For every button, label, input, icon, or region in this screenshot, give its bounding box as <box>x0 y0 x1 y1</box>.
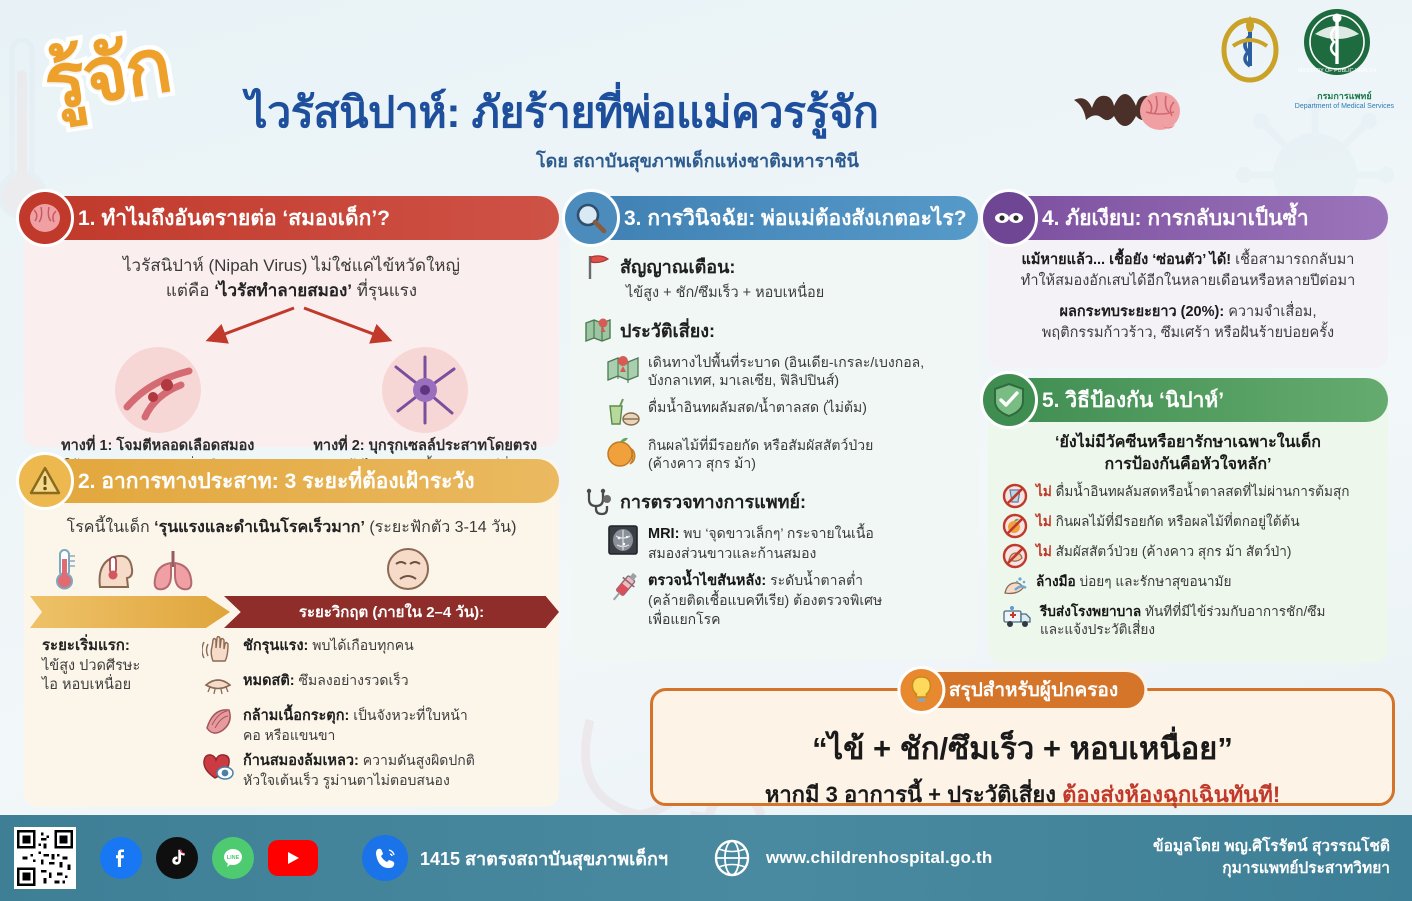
thermometer-icon <box>50 547 80 591</box>
youtube-icon[interactable] <box>268 840 318 876</box>
prevention-text: ดื่มน้ำอินทผลัมสดหรือน้ำตาลสดที่ไม่ผ่านก… <box>1052 484 1350 499</box>
symptom-text: พบได้เกือบทุกคน <box>308 637 413 653</box>
p4-line2: ทำให้สมองอักเสบได้อีกในหลายเดือนหรือหลาย… <box>1000 271 1376 292</box>
p4-line3-bold: ผลกระทบระยะยาว (20%): <box>1060 304 1225 320</box>
panel-neuro-symptoms: 2. อาการทางประสาท: 3 ระยะที่ต้องเฝ้าระวั… <box>24 459 559 807</box>
no-animal-icon <box>1002 543 1028 569</box>
prevention-item: ล้างมือ บ่อยๆ และรักษาสุขอนามัย <box>988 569 1388 599</box>
symptom-item: หมดสติ: ซึมลงอย่างรวดเร็ว <box>202 671 543 699</box>
wash-hands-icon <box>1002 573 1028 599</box>
social-links: LINE <box>100 837 318 879</box>
route-2-title: ทางที่ 2: บุกรุกเซลล์ประสาทโดยตรง <box>313 438 537 454</box>
blood-vessel-icon <box>115 347 201 433</box>
risk-head: ประวัติเสี่ยง: <box>584 316 978 345</box>
panel3-header: 3. การวินิจฉัย: พ่อแม่ต้องสังเกตอะไร? <box>570 196 978 240</box>
summary-line2-red: ต้องส่งห้องฉุกเฉินทันที! <box>1062 782 1280 807</box>
prevention-text: สัมผัสสัตว์ป่วย (ค้างคาว สุกร ม้า สัตว์ป… <box>1052 544 1292 559</box>
risk-item: เดินทางไปพื้นที่ระบาด (อินเดีย-เกรละ/เบง… <box>584 353 978 390</box>
royal-emblem-logo <box>1219 6 1281 91</box>
hotline-block: 1415 สาตรงสถาบันสุขภาพเด็กฯ <box>362 835 668 881</box>
panel3-title: 3. การวินิจฉัย: พ่อแม่ต้องสังเกตอะไร? <box>624 202 967 235</box>
infographic-root: รู้จัก ไวรัสนิปาห์: ภัยร้ายที่พ่อแม่ควรร… <box>0 0 1412 901</box>
panel-prevention: 5. วิธีป้องกัน ‘นิปาห์’ ‘ยังไม่มีวัคซีนห… <box>988 378 1388 663</box>
p4-line3-rest: ความจำเสื่อม, <box>1224 304 1316 320</box>
warning-triangle-icon <box>16 452 74 510</box>
panel2-lead: โรคนี้ในเด็ก ‘รุนแรงและดำเนินโรคเร็วมาก’… <box>24 515 559 540</box>
heart-eye-icon <box>202 751 234 781</box>
exam-item: ตรวจน้ำไขสันหลัง: ระดับน้ำตาลต่ำ (คล้ายต… <box>584 571 978 629</box>
risk-item: ดื่มน้ำอินทผลัมสด/น้ำตาลสด (ไม่ต้ม) <box>584 398 978 428</box>
stage-early: ระยะเริ่มแรก: ไข้สูง ปวดศีรษะ ไอ หอบเหนื… <box>42 636 192 796</box>
panel5-quote: ‘ยังไม่มีวัคซีนหรือยารักษาเฉพาะในเด็ก กา… <box>988 422 1388 479</box>
page-title: ไวรัสนิปาห์: ภัยร้ายที่พ่อแม่ควรรู้จัก <box>246 78 878 146</box>
symptom-item: ชักรุนแรง: พบได้เกือบทุกคน <box>202 636 543 664</box>
stage-early-bar <box>30 596 230 628</box>
panel2-title: 2. อาการทางประสาท: 3 ระยะที่ต้องเฝ้าระวั… <box>78 465 474 498</box>
panel1-lead-bold: ‘ไวรัสทำลายสมอง’ <box>214 281 352 300</box>
panel-silent-threat: 4. ภัยเงียบ: การกลับมาเป็นซ้ำ แม้หายแล้ว… <box>988 196 1388 368</box>
neuron-icon <box>382 347 468 433</box>
page-header: รู้จัก ไวรัสนิปาห์: ภัยร้ายที่พ่อแม่ควรร… <box>0 0 1412 180</box>
website-text[interactable]: www.childrenhospital.go.th <box>766 848 993 868</box>
p5-quote-l2: การป้องกันคือหัวใจหลัก’ <box>1002 454 1374 476</box>
risk-text: ดื่มน้ำอินทผลัมสด/น้ำตาลสด (ไม่ต้ม) <box>648 398 867 417</box>
medical-exam-section: การตรวจทางการแพทย์: MRI: พบ ‘จุดขาวเล็กๆ… <box>570 487 978 628</box>
stage-bar: ระยะวิกฤต (ภายใน 2–4 วัน): <box>24 596 559 628</box>
summary-line2-black: หากมี 3 อาการนี้ + ประวัติเสี่ยง <box>765 782 1062 807</box>
headache-icon <box>94 547 136 591</box>
panel4-body: แม้หายแล้ว... เชื้อยัง ‘ซ่อนตัว’ ได้! เช… <box>988 240 1388 344</box>
ambulance-icon <box>1002 603 1032 629</box>
panel5-title: 5. วิธีป้องกัน ‘นิปาห์’ <box>1042 384 1224 417</box>
panel2-body: ระยะเริ่มแรก: ไข้สูง ปวดศีรษะ ไอ หอบเหนื… <box>24 628 559 796</box>
stage-early-title: ระยะเริ่มแรก: <box>42 637 130 654</box>
magnifier-icon <box>562 189 620 247</box>
title-icons <box>1070 86 1180 143</box>
facebook-icon[interactable] <box>100 837 142 879</box>
prevention-text: กินผลไม้ที่มีรอยกัด หรือผลไม้ที่ตกอยู่ใต… <box>1052 514 1300 529</box>
warn-sub: ไข้สูง + ชัก/ซึมเร็ว + หอบเหนื่อย <box>584 284 978 304</box>
p4-line4: พฤติกรรมก้าวร้าว, ซึมเศร้า หรือฝันร้ายบ่… <box>1000 323 1376 344</box>
shield-check-icon <box>980 371 1038 429</box>
branch-arrows <box>174 304 424 346</box>
muscle-icon <box>202 706 234 734</box>
page-footer: LINE 1415 สาตรงสถาบันสุขภาพเด็กฯ www.chi… <box>0 815 1412 901</box>
panel4-title: 4. ภัยเงียบ: การกลับมาเป็นซ้ำ <box>1042 202 1309 235</box>
shaking-hand-icon <box>202 636 234 664</box>
stethoscope-icon <box>584 488 612 516</box>
qr-code[interactable] <box>14 827 76 889</box>
symptom-bold: ก้านสมองล้มเหลว: <box>243 753 359 769</box>
mri-scan-icon <box>606 524 640 556</box>
no-drink-icon <box>1002 483 1028 509</box>
line-icon[interactable]: LINE <box>212 837 254 879</box>
risk-item: กินผลไม้ที่มีรอยกัด หรือสัมผัสสัตว์ป่วย … <box>584 436 978 473</box>
symptom-item: กล้ามเนื้อกระตุก: เป็นจังหวะที่ใบหน้า คอ… <box>202 706 543 744</box>
summary-box: สรุปสำหรับผู้ปกครอง “ไข้ + ชัก/ซึมเร็ว +… <box>650 688 1395 806</box>
panel1-title: 1. ทำไมถึงอันตรายต่อ ‘สมองเด็ก’? <box>78 202 390 235</box>
no-prefix: ไม่ <box>1036 514 1052 529</box>
summary-line2: หากมี 3 อาการนี้ + ประวัติเสี่ยง ต้องส่ง… <box>653 777 1392 812</box>
panel1-header: 1. ทำไมถึงอันตรายต่อ ‘สมองเด็ก’? <box>24 196 559 240</box>
stage-early-desc: ไข้สูง ปวดศีรษะ ไอ หอบเหนื่อย <box>42 657 192 696</box>
lightbulb-icon <box>897 666 945 714</box>
map-pin-icon <box>606 353 640 383</box>
symptom-text: ซึมลงอย่างรวดเร็ว <box>295 672 409 688</box>
exam-bold: ตรวจน้ำไขสันหลัง: <box>648 573 766 589</box>
p4-line1-bold: แม้หายแล้ว... เชื้อยัง ‘ซ่อนตัว’ ได้! <box>1022 252 1232 268</box>
symptom-item: ก้านสมองล้มเหลว: ความดันสูงผิดปกติ หัวใจ… <box>202 751 543 789</box>
p5-quote-l1: ‘ยังไม่มีวัคซีนหรือยารักษาเฉพาะในเด็ก <box>1002 432 1374 454</box>
panel1-lead-pre: แต่คือ <box>166 281 214 300</box>
p4-line1-rest: เชื้อสามารถกลับมา <box>1231 252 1354 268</box>
risk-head-text: ประวัติเสี่ยง: <box>620 316 715 345</box>
bitten-fruit-icon <box>606 436 640 468</box>
exam-text: พบ ‘จุดขาวเล็กๆ’ กระจายในเนื้อ สมองส่วนข… <box>648 525 874 561</box>
prevention-bold: ล้างมือ <box>1036 574 1076 589</box>
svg-text:LINE: LINE <box>227 855 240 861</box>
no-prefix: ไม่ <box>1036 544 1052 559</box>
warn-head-text: สัญญาณเตือน: <box>620 252 735 281</box>
risk-text: กินผลไม้ที่มีรอยกัด หรือสัมผัสสัตว์ป่วย … <box>648 436 873 473</box>
brain-icon <box>1140 92 1180 130</box>
panel2-lead-pre: โรคนี้ในเด็ก <box>67 519 155 536</box>
credit-line1: ข้อมูลโดย พญ.ศิโรรัตน์ สุวรรณโชติ <box>1153 836 1390 858</box>
globe-icon <box>712 838 752 878</box>
exam-item: MRI: พบ ‘จุดขาวเล็กๆ’ กระจายในเนื้อ สมอง… <box>584 524 978 563</box>
exam-head-text: การตรวจทางการแพทย์: <box>620 487 806 516</box>
badge-word: รู้จัก <box>35 5 178 143</box>
risk-history-section: ประวัติเสี่ยง: เดินทางไปพื้นที่ระบาด (อิ… <box>570 316 978 473</box>
map-icon <box>584 316 612 344</box>
summary-tab-label: สรุปสำหรับผู้ปกครอง <box>949 675 1118 705</box>
summary-line1: “ไข้ + ชัก/ซึมเร็ว + หอบเหนื่อย” <box>653 723 1392 773</box>
exam-bold: MRI: <box>648 526 679 542</box>
panel-diagnosis: 3. การวินิจฉัย: พ่อแม่ต้องสังเกตอะไร? สั… <box>570 196 978 660</box>
symptom-bold: หมดสติ: <box>243 673 295 689</box>
symptom-list: ชักรุนแรง: พบได้เกือบทุกคน หมดสติ: ซึมลง… <box>202 636 543 796</box>
logo-caption-th: กรมการแพทย์ <box>1295 89 1394 103</box>
tiktok-icon[interactable] <box>156 837 198 879</box>
brain-icon <box>16 189 74 247</box>
page-subtitle: โดย สถาบันสุขภาพเด็กแห่งชาติมหาราชินี <box>536 146 859 175</box>
route-1-title: ทางที่ 1: โจมตีหลอดเลือดสมอง <box>61 438 254 454</box>
prevention-item: รีบส่งโรงพยาบาล ทันทีที่มีไข้ร่วมกับอากา… <box>988 599 1388 638</box>
prevention-item: ไม่ ดื่มน้ำอินทผลัมสดหรือน้ำตาลสดที่ไม่ผ… <box>988 479 1388 509</box>
panel2-symptom-icons <box>24 540 559 594</box>
risk-text: เดินทางไปพื้นที่ระบาด (อินเดีย-เกรละ/เบง… <box>648 353 924 390</box>
panel5-header: 5. วิธีป้องกัน ‘นิปาห์’ <box>988 378 1388 422</box>
panel2-lead-bold: ‘รุนแรงและดำเนินโรคเร็วมาก’ <box>154 519 365 536</box>
lungs-icon <box>150 547 196 591</box>
prevention-item: ไม่ สัมผัสสัตว์ป่วย (ค้างคาว สุกร ม้า สั… <box>988 539 1388 569</box>
drink-icon <box>606 398 640 428</box>
panel2-lead-post: (ระยะฟักตัว 3-14 วัน) <box>365 519 516 536</box>
tired-face-icon <box>383 546 433 592</box>
mophl-logo: MINISTRY OF PUBLIC HEALTH กรมการแพทย์ De… <box>1295 6 1394 110</box>
prevention-text: บ่อยๆ และรักษาสุขอนามัย <box>1076 574 1232 589</box>
panel2-header: 2. อาการทางประสาท: 3 ระยะที่ต้องเฝ้าระวั… <box>24 459 559 503</box>
panel4-header: 4. ภัยเงียบ: การกลับมาเป็นซ้ำ <box>988 196 1388 240</box>
panel-why-dangerous: 1. ทำไมถึงอันตรายต่อ ‘สมองเด็ก’? ไวรัสนิ… <box>24 196 559 447</box>
logo-caption-en: Department of Medical Services <box>1295 103 1394 110</box>
exam-head: การตรวจทางการแพทย์: <box>584 487 978 516</box>
seal-text: MINISTRY OF PUBLIC HEALTH <box>1298 68 1376 74</box>
panel1-lead-post: ที่รุนแรง <box>352 281 417 300</box>
warning-signs-head: สัญญาณเตือน: <box>584 252 978 281</box>
hidden-eyes-icon <box>980 189 1038 247</box>
warning-signs-section: สัญญาณเตือน: ไข้สูง + ชัก/ซึมเร็ว + หอบเ… <box>570 252 978 304</box>
symptom-bold: กล้ามเนื้อกระตุก: <box>243 708 349 724</box>
hotline-text: 1415 สาตรงสถาบันสุขภาพเด็กฯ <box>420 844 668 873</box>
summary-tab: สรุปสำหรับผู้ปกครอง <box>898 669 1147 711</box>
red-flag-icon <box>584 253 612 281</box>
no-prefix: ไม่ <box>1036 484 1052 499</box>
panel1-lead-line1: ไวรัสนิปาห์ (Nipah Virus) ไม่ใช่แค่ไข้หว… <box>24 254 559 279</box>
credit-line2: กุมารแพทย์ประสาทวิทยา <box>1153 858 1390 880</box>
prevention-item: ไม่ กินผลไม้ที่มีรอยกัด หรือผลไม้ที่ตกอย… <box>988 509 1388 539</box>
no-fruit-icon <box>1002 513 1028 539</box>
closed-eye-icon <box>202 671 234 699</box>
phone-icon <box>362 835 408 881</box>
logos: MINISTRY OF PUBLIC HEALTH กรมการแพทย์ De… <box>1219 6 1394 110</box>
panel1-lead: ไวรัสนิปาห์ (Nipah Virus) ไม่ใช่แค่ไข้หว… <box>24 254 559 303</box>
syringe-icon <box>606 571 640 605</box>
website-block: www.childrenhospital.go.th <box>712 838 993 878</box>
credit-block: ข้อมูลโดย พญ.ศิโรรัตน์ สุวรรณโชติ กุมารแ… <box>1153 836 1390 879</box>
prevention-bold: รีบส่งโรงพยาบาล <box>1040 604 1141 619</box>
symptom-bold: ชักรุนแรง: <box>243 638 308 654</box>
stage-critical-bar: ระยะวิกฤต (ภายใน 2–4 วัน): <box>224 596 559 628</box>
